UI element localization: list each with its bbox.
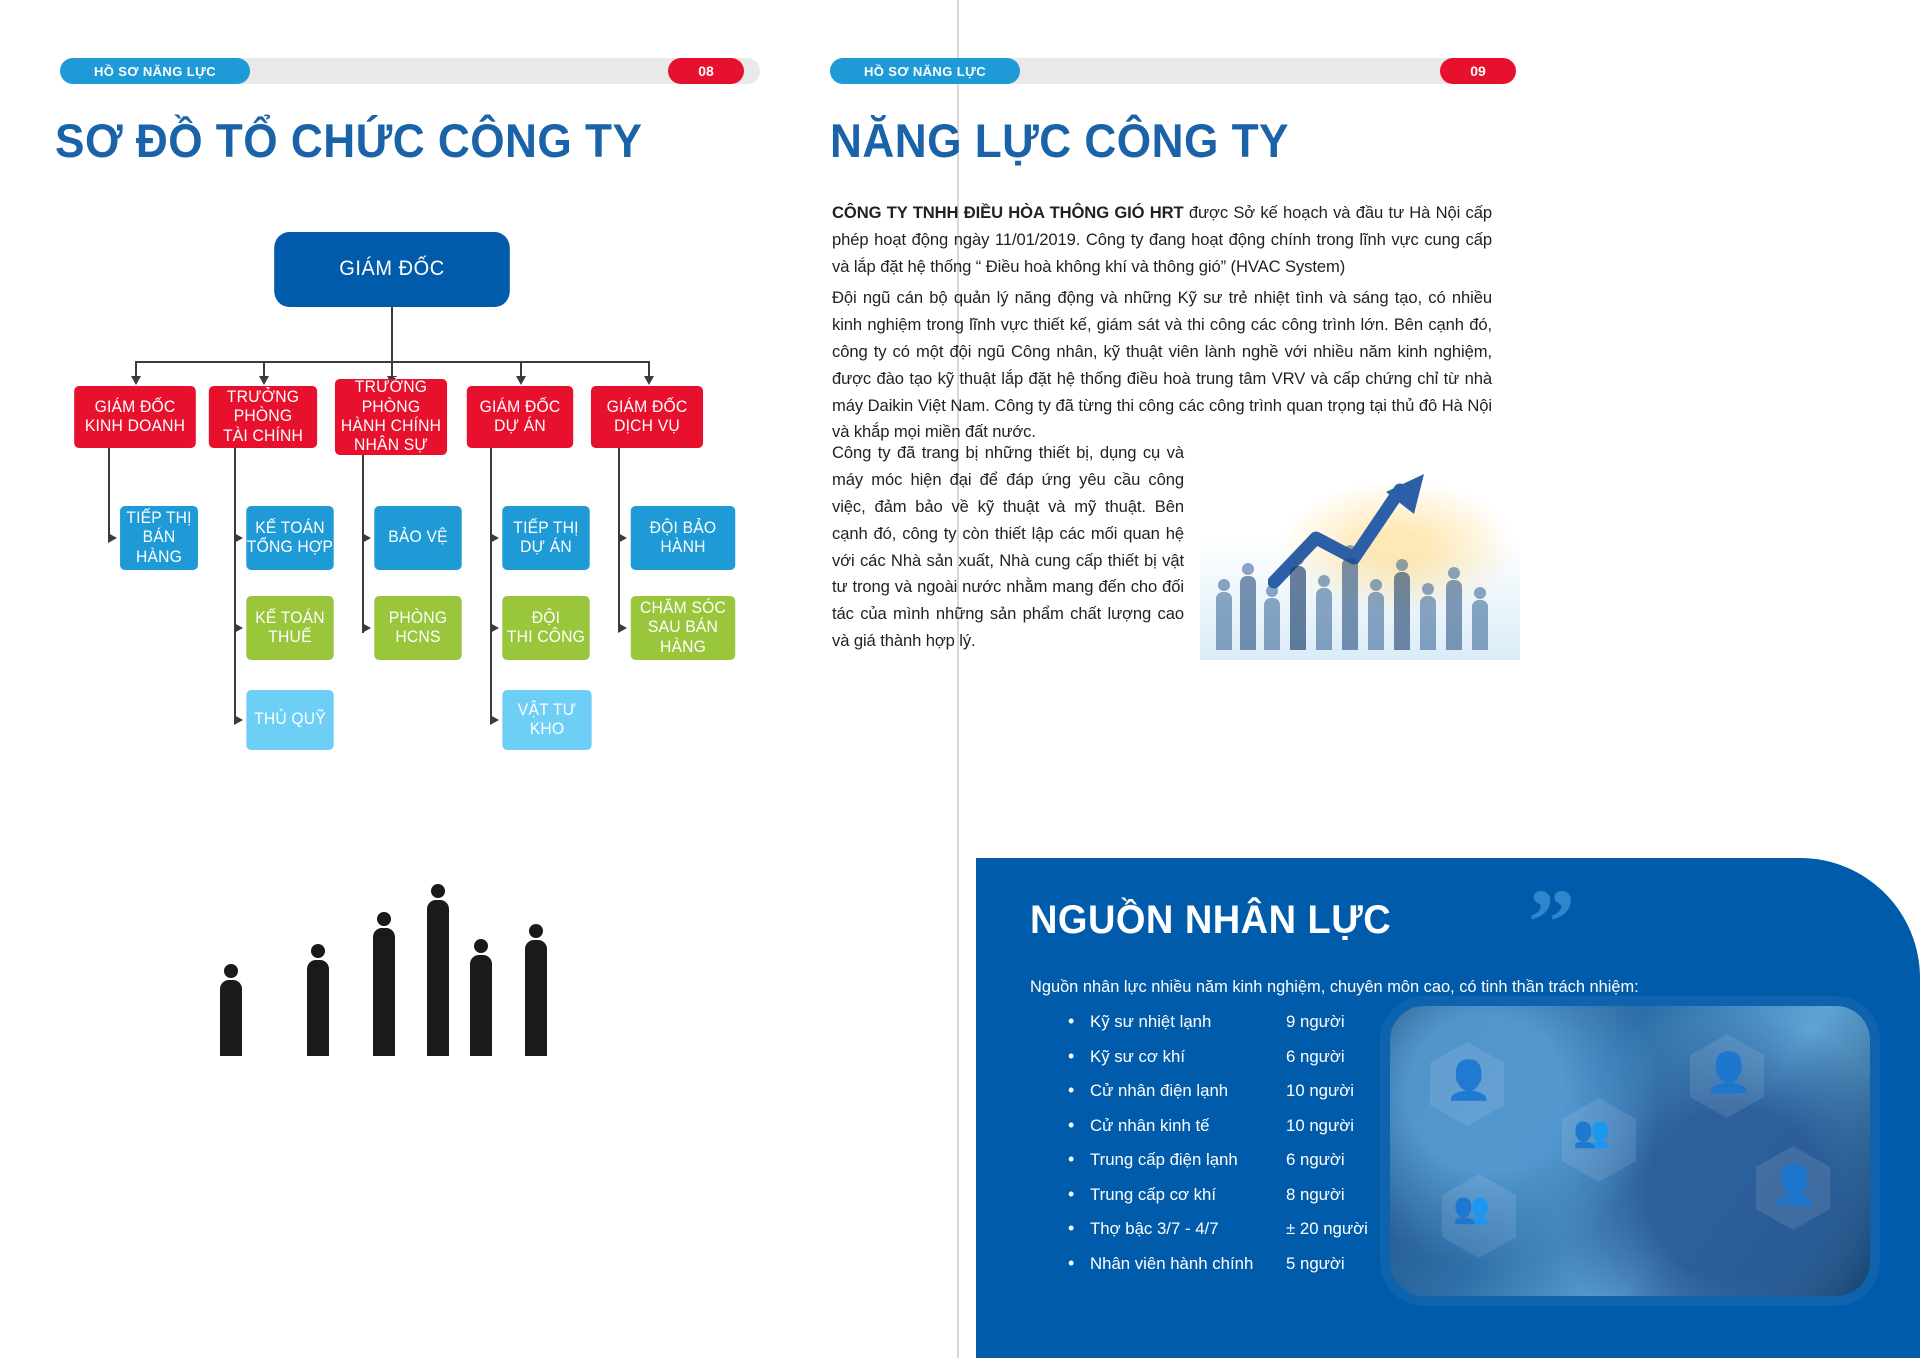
org-node-c3-child-2: PHÒNG HCNS [374,596,461,660]
hr-item-count: 6 người [1286,1047,1345,1067]
person-icon-5: 👥 [1453,1194,1490,1224]
org-arrow-col-5-child-2 [618,623,627,633]
org-node-head-3-line-3: NHÂN SỰ [354,436,428,455]
org-node-head-5-line-1: GIÁM ĐỐC [607,398,688,417]
hr-panel-title: NGUỒN NHÂN LỰC [1030,898,1391,943]
hr-item-label: Trung cấp cơ khí [1090,1185,1286,1205]
org-node-head-4: GIÁM ĐỐC DỰ ÁN [467,386,573,448]
right-page-title: NĂNG LỰC CÔNG TY [830,113,1289,168]
org-node-c4-child-2: ĐỘI THI CÔNG [502,596,589,660]
org-node-c3-child-1-line-1: BẢO VỆ [388,528,448,547]
hr-item-count: 9 người [1286,1012,1345,1032]
org-node-c4-child-2-line-2: THI CÔNG [507,628,585,647]
org-node-head-3-line-1: TRƯỞNG PHÒNG [335,378,447,417]
crowd-silhouettes [1210,520,1510,650]
hr-item-count: 10 người [1286,1081,1354,1101]
company-equipment-paragraph: Công ty đã trang bị những thiết bị, dụng… [832,440,1184,655]
hr-item-label: Thợ bậc 3/7 - 4/7 [1090,1219,1286,1239]
org-node-c2-child-1-line-1: KẾ TOÁN [255,519,325,538]
hr-item-label: Cử nhân kinh tế [1090,1116,1286,1136]
hr-item-count: 10 người [1286,1116,1354,1136]
org-node-c3-child-1: BẢO VỆ [374,506,461,570]
org-node-c2-child-3-line-1: THỦ QUỸ [254,710,326,729]
org-node-head-1-line-1: GIÁM ĐỐC [95,398,176,417]
org-connector-col-4 [490,448,492,720]
team-growth-illustration [215,780,775,1070]
company-name-bold: CÔNG TY TNHH ĐIỀU HÒA THÔNG GIÓ HRT [832,203,1184,222]
org-connector-col-1 [108,448,110,538]
org-node-head-3-line-2: HÀNH CHÍNH [341,417,441,436]
hr-item-count: 8 người [1286,1185,1345,1205]
org-node-head-2-line-1: TRƯỞNG PHÒNG [209,388,317,427]
org-node-c4-child-1-line-1: TIẾP THỊ [513,519,578,538]
org-arrow-head-5 [644,376,654,385]
quote-icon: ” [1528,876,1575,970]
org-node-c1-child-1-line-2: BÁN HÀNG [120,528,198,567]
right-page-number: 09 [1440,58,1516,84]
hr-item-label: Kỹ sư nhiệt lạnh [1090,1012,1286,1032]
hr-item-label: Cử nhân điện lạnh [1090,1081,1286,1101]
org-node-c2-child-2: KẾ TOÁN THUẾ [246,596,333,660]
org-node-c5-child-1: ĐỘI BẢO HÀNH [631,506,736,570]
org-arrow-col-4-child-1 [490,533,499,543]
hr-item-label: Kỹ sư cơ khí [1090,1047,1286,1067]
org-node-c2-child-2-line-1: KẾ TOÁN [255,609,325,628]
org-arrow-col-2-child-3 [234,715,243,725]
org-node-head-2-line-2: TÀI CHÍNH [223,427,303,446]
hr-item-label: Trung cấp điện lạnh [1090,1150,1286,1170]
org-node-c1-child-1: TIẾP THỊ BÁN HÀNG [120,506,198,570]
org-node-c4-child-1: TIẾP THỊ DỰ ÁN [502,506,589,570]
org-node-c3-child-2-line-2: HCNS [395,628,440,647]
org-node-c2-child-2-line-2: THUẾ [268,628,311,647]
person-icon-3: 👤 [1705,1054,1752,1092]
bullet-icon: • [1068,1012,1090,1030]
org-node-head-5-line-2: DỊCH VỤ [614,417,680,436]
org-arrow-col-1-child-1 [108,533,117,543]
org-connector-root-stem [391,307,393,362]
hr-item-count: 6 người [1286,1150,1345,1170]
bullet-icon: • [1068,1081,1090,1099]
org-node-c3-child-2-line-1: PHÒNG [389,609,447,628]
hr-item-count: ± 20 người [1286,1219,1368,1239]
org-connector-col-3 [362,455,364,633]
hr-team-photo: 👤 👥 👤 👤 👥 [1390,1006,1870,1296]
person-silhouette-3 [373,928,395,1056]
org-arrow-col-2-child-2 [234,623,243,633]
org-arrow-head-2 [259,376,269,385]
org-node-c5-child-2: CHĂM SÓC SAU BÁN HÀNG [631,596,736,660]
bullet-icon: • [1068,1116,1090,1134]
org-node-root-label: GIÁM ĐỐC [339,257,444,282]
org-arrow-col-3-child-1 [362,533,371,543]
org-node-c2-child-3: THỦ QUỸ [246,690,333,750]
hr-item-count: 5 người [1286,1254,1345,1274]
org-node-c4-child-3-line-1: VẬT TƯ KHO [502,701,591,740]
org-arrow-head-4 [516,376,526,385]
company-staff-paragraph: Đội ngũ cán bộ quản lý năng động và nhữn… [832,285,1492,446]
org-node-c5-child-1-line-1: ĐỘI BẢO HÀNH [631,519,736,558]
org-node-c2-child-1: KẾ TOÁN TỔNG HỢP [246,506,333,570]
org-node-c1-child-1-line-1: TIẾP THỊ [126,509,191,528]
org-node-c4-child-1-line-2: DỰ ÁN [520,538,572,557]
bullet-icon: • [1068,1047,1090,1065]
company-intro-paragraph: CÔNG TY TNHH ĐIỀU HÒA THÔNG GIÓ HRT được… [832,200,1492,281]
org-node-c4-child-2-line-1: ĐỘI [532,609,560,628]
left-page-number: 08 [668,58,744,84]
org-arrow-col-5-child-1 [618,533,627,543]
person-silhouette-6 [525,940,547,1056]
person-icon-4: 👤 [1771,1166,1818,1204]
bullet-icon: • [1068,1185,1090,1203]
left-page-title: SƠ ĐỒ TỔ CHỨC CÔNG TY [55,113,642,168]
org-node-head-1-line-2: KINH DOANH [85,417,185,436]
org-node-c2-child-1-line-2: TỔNG HỢP [247,538,333,557]
org-arrow-col-4-child-3 [490,715,499,725]
brochure-spread: HỒ SƠ NĂNG LỰC 08 SƠ ĐỒ TỔ CHỨC CÔNG TY … [0,0,1920,1358]
person-silhouette-2 [307,960,329,1056]
org-node-head-4-line-2: DỰ ÁN [494,417,546,436]
person-icon-2: 👥 [1573,1118,1610,1148]
org-node-head-1: GIÁM ĐỐC KINH DOANH [74,386,196,448]
org-node-head-5: GIÁM ĐỐC DỊCH VỤ [591,386,703,448]
person-icon-1: 👤 [1445,1062,1492,1100]
right-header-tag: HỒ SƠ NĂNG LỰC [830,58,1020,84]
org-node-head-2: TRƯỞNG PHÒNG TÀI CHÍNH [209,386,317,448]
hr-panel-subtitle: Nguồn nhân lực nhiều năm kinh nghiệm, ch… [1030,975,1760,1000]
org-connector-col-2 [234,448,236,720]
bullet-icon: • [1068,1254,1090,1272]
person-silhouette-1 [220,980,242,1056]
org-node-c4-child-3: VẬT TƯ KHO [502,690,591,750]
org-arrow-col-3-child-2 [362,623,371,633]
person-silhouette-5 [470,955,492,1056]
left-header-tag: HỒ SƠ NĂNG LỰC [60,58,250,84]
org-node-root: GIÁM ĐỐC [274,232,510,307]
person-silhouette-4 [427,900,449,1056]
org-node-c5-child-2-line-1: CHĂM SÓC [640,599,726,618]
org-node-head-4-line-1: GIÁM ĐỐC [480,398,561,417]
bullet-icon: • [1068,1219,1090,1237]
bullet-icon: • [1068,1150,1090,1168]
org-arrow-col-4-child-2 [490,623,499,633]
org-node-c5-child-2-line-2: SAU BÁN HÀNG [631,618,736,657]
org-arrow-col-2-child-1 [234,533,243,543]
hr-item-label: Nhân viên hành chính [1090,1254,1286,1274]
org-node-head-3: TRƯỞNG PHÒNG HÀNH CHÍNH NHÂN SỰ [335,379,447,455]
org-arrow-head-1 [131,376,141,385]
